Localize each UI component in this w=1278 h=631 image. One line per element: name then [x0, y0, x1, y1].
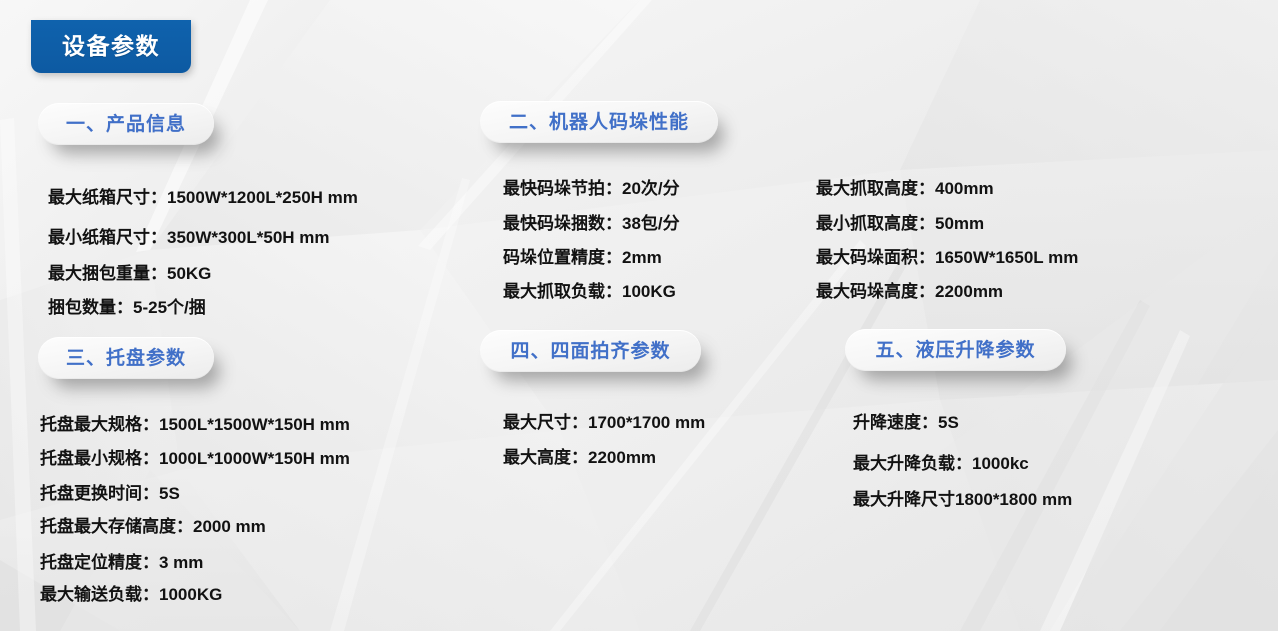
param-line: 最快码垛节拍：20次/分 — [503, 180, 680, 197]
section-heading-label: 四、四面拍齐参数 — [510, 342, 670, 361]
section-heading-pallet-params: 三、托盘参数 — [38, 337, 214, 379]
section-heading-hydraulic-lift: 五、液压升降参数 — [845, 329, 1066, 371]
section-heading-label: 一、产品信息 — [66, 115, 186, 134]
param-line: 最快码垛捆数：38包/分 — [503, 215, 680, 232]
param-line: 最大纸箱尺寸：1500W*1200L*250H mm — [48, 189, 358, 206]
section-heading-product-info: 一、产品信息 — [38, 103, 214, 145]
param-line: 升降速度：5S — [853, 414, 959, 431]
param-line: 托盘最大存储高度：2000 mm — [40, 518, 266, 535]
param-line: 托盘最小规格：1000L*1000W*150H mm — [40, 450, 350, 467]
param-line: 最大抓取高度：400mm — [816, 180, 994, 197]
section-heading-four-side-align: 四、四面拍齐参数 — [480, 330, 701, 372]
page-title-badge: 设备参数 — [31, 20, 191, 73]
section-heading-robot-palletizing: 二、机器人码垛性能 — [480, 101, 718, 143]
param-line: 最大码垛高度：2200mm — [816, 283, 1003, 300]
param-line: 托盘更换时间：5S — [40, 485, 180, 502]
param-line: 最大捆包重量：50KG — [48, 265, 211, 282]
param-line: 最小抓取高度：50mm — [816, 215, 984, 232]
param-line: 最大升降负载：1000kc — [853, 455, 1029, 472]
section-heading-label: 五、液压升降参数 — [875, 341, 1035, 360]
param-line: 捆包数量：5-25个/捆 — [48, 299, 206, 316]
param-line: 最小纸箱尺寸：350W*300L*50H mm — [48, 229, 330, 246]
param-line: 最大升降尺寸1800*1800 mm — [853, 491, 1072, 508]
param-line: 托盘定位精度：3 mm — [40, 554, 203, 571]
param-line: 最大输送负载：1000KG — [40, 586, 222, 603]
section-heading-label: 二、机器人码垛性能 — [509, 113, 689, 132]
section-heading-label: 三、托盘参数 — [66, 349, 186, 368]
param-line: 最大码垛面积：1650W*1650L mm — [816, 249, 1078, 266]
param-line: 码垛位置精度：2mm — [503, 249, 662, 266]
param-line: 托盘最大规格：1500L*1500W*150H mm — [40, 416, 350, 433]
param-line: 最大尺寸：1700*1700 mm — [503, 414, 705, 431]
param-line: 最大抓取负载：100KG — [503, 283, 676, 300]
param-line: 最大高度：2200mm — [503, 449, 656, 466]
equipment-parameters-slide: 设备参数 一、产品信息 最大纸箱尺寸：1500W*1200L*250H mm 最… — [0, 0, 1278, 631]
page-title: 设备参数 — [62, 35, 160, 58]
